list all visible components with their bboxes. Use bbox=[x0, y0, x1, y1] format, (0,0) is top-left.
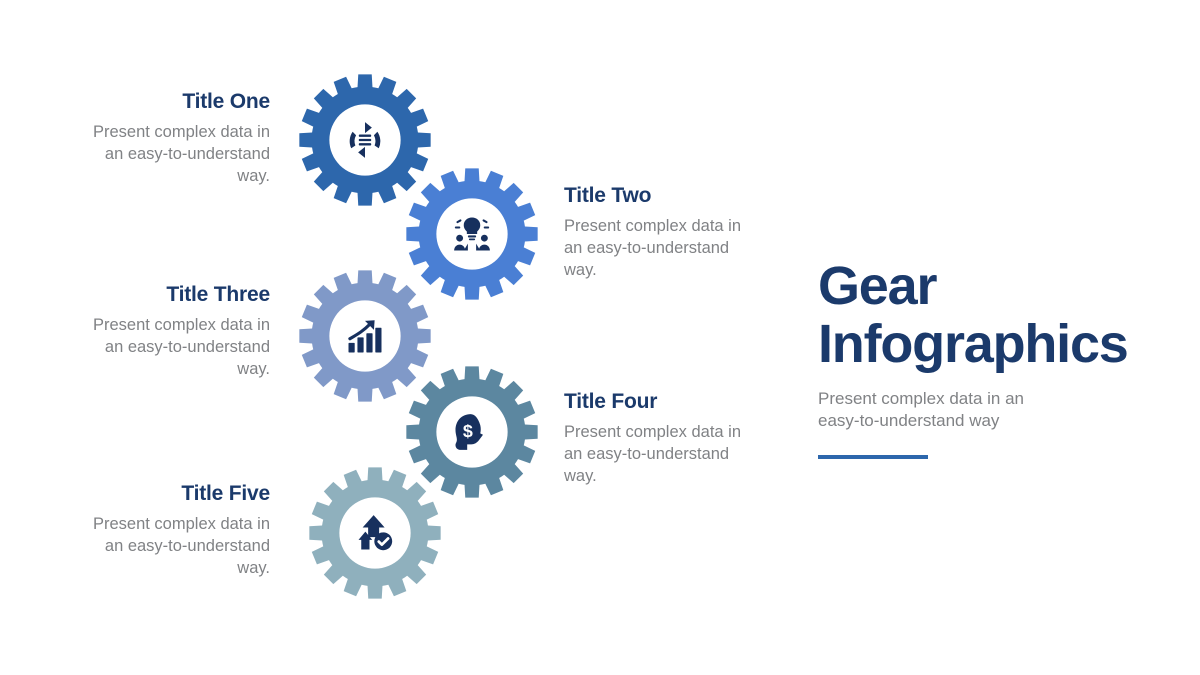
headline-accent-rule bbox=[818, 455, 928, 459]
step-title-one: Title One bbox=[74, 90, 270, 113]
step-title-two: Title Two bbox=[564, 184, 760, 207]
gear-five[interactable] bbox=[309, 467, 441, 599]
step-text-block-one: Title One Present complex data in an eas… bbox=[74, 90, 270, 187]
step-text-block-three: Title Three Present complex data in an e… bbox=[74, 283, 270, 380]
headline-title-line-one: Gear bbox=[818, 258, 1148, 316]
step-title-four: Title Four bbox=[564, 390, 760, 413]
step-description-four: Present complex data in an easy-to-under… bbox=[564, 422, 760, 487]
step-description-one: Present complex data in an easy-to-under… bbox=[74, 122, 270, 187]
headline-block: Gear Infographics Present complex data i… bbox=[818, 258, 1148, 459]
headline-title-line-two: Infographics bbox=[818, 316, 1148, 374]
step-description-two: Present complex data in an easy-to-under… bbox=[564, 216, 760, 281]
step-text-block-five: Title Five Present complex data in an ea… bbox=[74, 482, 270, 579]
step-text-block-four: Title Four Present complex data in an ea… bbox=[564, 390, 760, 487]
slide-canvas: Title One Present complex data in an eas… bbox=[0, 0, 1200, 675]
headline-subtitle: Present complex data in an easy-to-under… bbox=[818, 388, 1068, 434]
step-description-five: Present complex data in an easy-to-under… bbox=[74, 514, 270, 579]
step-text-block-two: Title Two Present complex data in an eas… bbox=[564, 184, 760, 281]
step-title-three: Title Three bbox=[74, 283, 270, 306]
step-title-five: Title Five bbox=[74, 482, 270, 505]
step-description-three: Present complex data in an easy-to-under… bbox=[74, 315, 270, 380]
